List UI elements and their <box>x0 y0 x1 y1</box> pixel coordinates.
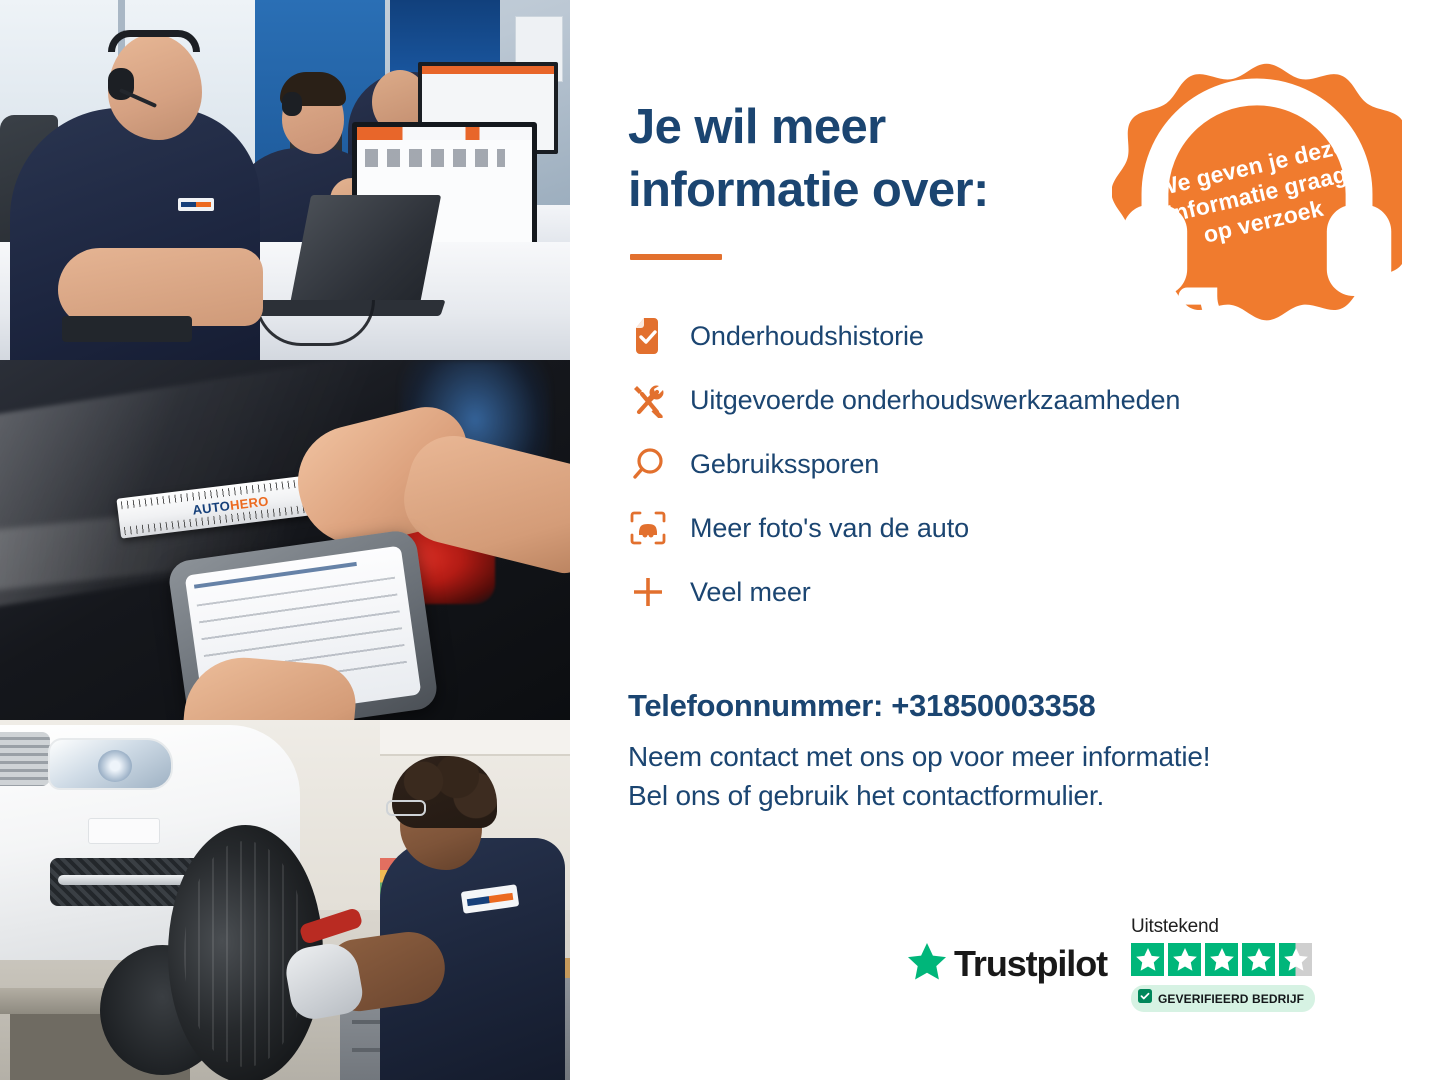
photo-workshop-wheel <box>0 720 570 1080</box>
desk-tablet <box>62 316 192 342</box>
verified-check-icon <box>1138 989 1152 1008</box>
trustpilot-widget[interactable]: Trustpilot Uitstekend <box>908 916 1315 1012</box>
contact-line-1: Neem contact met ons op voor meer inform… <box>628 741 1210 772</box>
list-item-label: Meer foto's van de auto <box>690 514 969 544</box>
rating-star <box>1242 943 1275 976</box>
rating-star-half <box>1279 943 1312 976</box>
agent-one-arm <box>58 248 263 326</box>
headline-line-1: Je wil meer <box>628 100 886 154</box>
photo-column: AUTOHERO <box>0 0 570 1080</box>
rating-word: Uitstekend <box>1131 916 1219 938</box>
accent-rule <box>630 254 722 260</box>
list-item-label: Uitgevoerde onderhoudswerkzaamheden <box>690 386 1180 416</box>
contact-message: Neem contact met ons op voor meer inform… <box>628 738 1380 815</box>
rating-star <box>1131 943 1164 976</box>
agent-two-headset <box>282 92 302 116</box>
agent-one-headset-band <box>108 30 200 52</box>
trustpilot-star-icon <box>908 943 946 985</box>
headline-line-2: informatie over: <box>628 163 989 217</box>
contact-line-2: Bel ons of gebruik het contactformulier. <box>628 780 1104 811</box>
list-item-label: Onderhoudshistorie <box>690 322 924 352</box>
request-info-badge: We geven je deze informatie graag op ver… <box>1112 58 1402 330</box>
star-rating <box>1131 943 1312 976</box>
trustpilot-logo[interactable]: Trustpilot <box>908 943 1107 985</box>
car-headlight <box>48 738 173 790</box>
autohero-polo-logo <box>178 198 214 211</box>
workshop-ceiling <box>380 720 570 756</box>
verified-label: GEVERIFIEERD BEDRIJF <box>1158 992 1304 1006</box>
content-column: Je wil meer informatie over: Onderhoudsh… <box>570 0 1440 1080</box>
list-item: Veel meer <box>628 560 1380 624</box>
rating-star <box>1205 943 1238 976</box>
magnifier-icon <box>628 447 668 481</box>
photo-call-center <box>0 0 570 360</box>
trustpilot-rating-block: Uitstekend <box>1131 916 1315 1012</box>
status-badge: GEVERIFIEERD BEDRIJF <box>1131 985 1315 1012</box>
list-item-label: Veel meer <box>690 578 811 608</box>
document-check-icon <box>628 318 668 354</box>
plus-icon <box>628 575 668 609</box>
trustpilot-wordmark: Trustpilot <box>954 943 1107 985</box>
mechanic-glasses <box>386 800 426 816</box>
laptop <box>289 195 441 310</box>
photo-car-inspection: AUTOHERO <box>0 360 570 720</box>
feature-list: Onderhoudshistorie Uitgevoerde onderhoud… <box>628 304 1380 624</box>
list-item: Meer foto's van de auto <box>628 496 1380 560</box>
license-plate-area <box>88 818 160 844</box>
list-item: Gebruikssporen <box>628 432 1380 496</box>
rating-star <box>1168 943 1201 976</box>
list-item: Uitgevoerde onderhoudswerkzaamheden <box>628 368 1380 432</box>
tools-wrench-screwdriver-icon <box>628 382 668 418</box>
list-item-label: Gebruikssporen <box>690 450 879 480</box>
phone-number: Telefoonnummer: +31850003358 <box>628 688 1380 724</box>
car-photo-frame-icon <box>628 511 668 545</box>
promo-banner: AUTOHERO <box>0 0 1440 1080</box>
car-grille <box>0 732 50 786</box>
page-title: Je wil meer informatie over: <box>628 96 1098 221</box>
